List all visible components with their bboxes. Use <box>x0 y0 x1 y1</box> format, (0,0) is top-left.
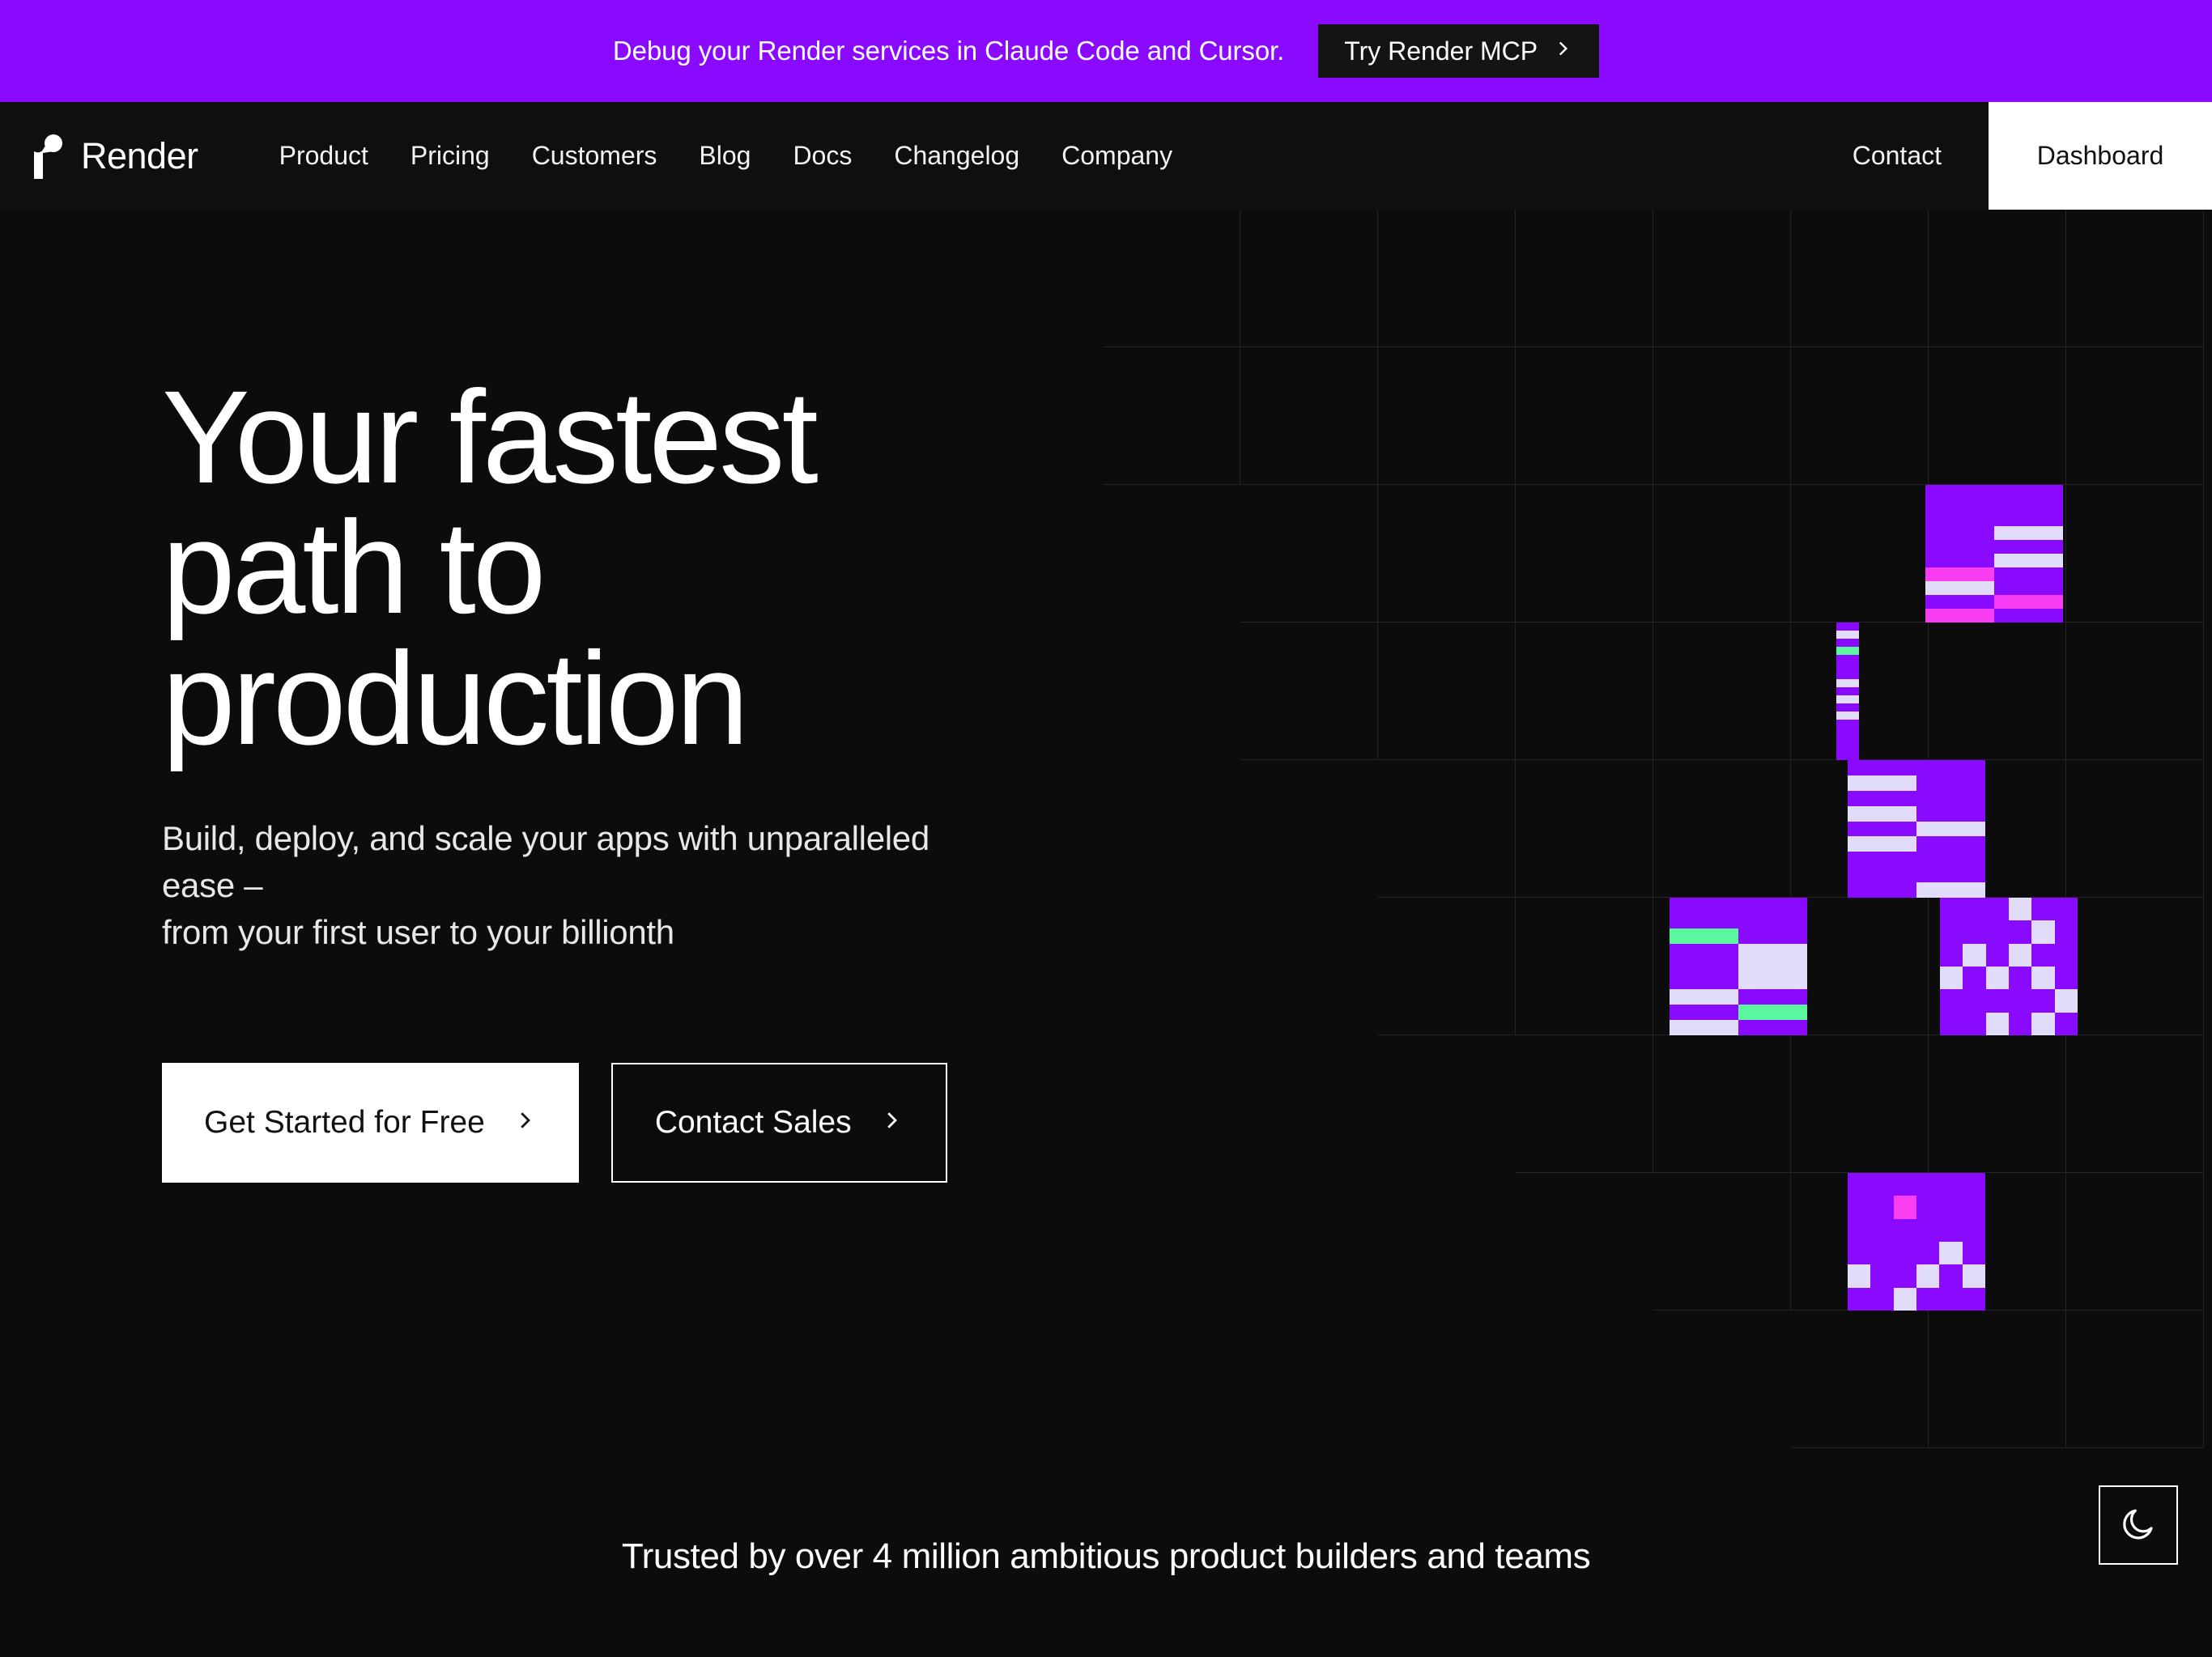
grid-cell <box>1378 485 1516 622</box>
hero-cta-row: Get Started for Free Contact Sales <box>162 1063 1053 1183</box>
grid-cell <box>1516 347 1653 485</box>
grid-cell <box>1516 1035 1653 1173</box>
trusted-by-text: Trusted by over 4 million ambitious prod… <box>622 1536 1590 1577</box>
grid-cell <box>1653 1035 1791 1173</box>
grid-cell <box>1516 760 1653 898</box>
nav-links: Product Pricing Customers Blog Docs Chan… <box>279 141 1173 171</box>
grid-cell <box>1653 1173 1791 1311</box>
subhead-line-2: from your first user to your billionth <box>162 913 674 951</box>
main-navigation: Render Product Pricing Customers Blog Do… <box>0 102 2212 210</box>
grid-cell <box>1929 1035 2066 1173</box>
grid-cell <box>2066 1173 2204 1311</box>
get-started-for-free-button[interactable]: Get Started for Free <box>162 1063 579 1183</box>
background-grid <box>1103 210 2212 1456</box>
grid-cell <box>1929 347 2066 485</box>
grid-cell <box>2066 898 2204 1035</box>
grid-cell <box>1653 760 1791 898</box>
grid-cell <box>1791 347 1929 485</box>
render-logo-icon <box>32 134 63 179</box>
hero-copy: Your fastest path to production Build, d… <box>162 372 1053 1183</box>
dashboard-button[interactable]: Dashboard <box>1989 102 2212 210</box>
grid-cell <box>1103 347 1240 485</box>
grid-cell <box>1929 1311 2066 1448</box>
primary-cta-label: Get Started for Free <box>204 1105 485 1141</box>
grid-cell <box>1240 622 1378 760</box>
trusted-by-strip: Trusted by over 4 million ambitious prod… <box>0 1456 2212 1657</box>
render-logo-text: Render <box>81 135 198 177</box>
nav-link-contact[interactable]: Contact <box>1806 102 1989 210</box>
grid-cell <box>1791 622 1929 760</box>
grid-cell <box>1516 898 1653 1035</box>
grid-cell <box>1791 1311 1929 1448</box>
grid-cell <box>2066 1035 2204 1173</box>
grid-cell <box>2066 760 2204 898</box>
grid-cell <box>1378 898 1516 1035</box>
nav-link-pricing[interactable]: Pricing <box>410 141 490 171</box>
grid-cell <box>1240 347 1378 485</box>
sprite-checker-bottom <box>1848 1173 1985 1311</box>
grid-cell <box>1929 210 2066 347</box>
grid-cell <box>2066 1311 2204 1448</box>
sprite-thin-bar <box>1836 622 1859 760</box>
sprite-stripes-top-right <box>1925 485 2063 622</box>
grid-cell <box>1791 485 1929 622</box>
nav-link-customers[interactable]: Customers <box>532 141 657 171</box>
nav-link-changelog[interactable]: Changelog <box>894 141 1019 171</box>
grid-cell <box>1378 622 1516 760</box>
grid-cell <box>1378 347 1516 485</box>
chevron-right-icon <box>513 1105 537 1141</box>
grid-cell <box>2066 210 2204 347</box>
grid-cell <box>1516 485 1653 622</box>
render-logo[interactable]: Render <box>32 134 198 179</box>
grid-cell <box>2066 347 2204 485</box>
grid-cell <box>1240 210 1378 347</box>
grid-cell <box>1516 210 1653 347</box>
grid-cell <box>1516 622 1653 760</box>
headline-line-3: production <box>162 624 746 772</box>
grid-cell <box>1378 210 1516 347</box>
hero-section: Your fastest path to production Build, d… <box>0 210 2212 1456</box>
grid-cell <box>1929 622 2066 760</box>
chevron-right-icon <box>879 1105 904 1141</box>
sprite-stripes-mid <box>1848 760 1985 898</box>
subhead-line-1: Build, deploy, and scale your apps with … <box>162 819 929 904</box>
grid-cell <box>1378 760 1516 898</box>
banner-message: Debug your Render services in Claude Cod… <box>613 36 1284 66</box>
theme-toggle-button[interactable] <box>2099 1485 2178 1565</box>
chevron-right-icon <box>1552 38 1573 64</box>
grid-cell <box>1653 485 1791 622</box>
grid-cell <box>1103 210 1240 347</box>
secondary-cta-label: Contact Sales <box>655 1105 852 1141</box>
grid-cell <box>1791 210 1929 347</box>
grid-cell <box>1791 1035 1929 1173</box>
grid-cell <box>2066 622 2204 760</box>
contact-sales-button[interactable]: Contact Sales <box>611 1063 947 1183</box>
grid-cell <box>1653 210 1791 347</box>
moon-icon <box>2119 1505 2158 1546</box>
try-render-mcp-button[interactable]: Try Render MCP <box>1318 24 1599 78</box>
page-title: Your fastest path to production <box>162 372 1053 763</box>
grid-cell <box>1653 347 1791 485</box>
nav-link-company[interactable]: Company <box>1061 141 1172 171</box>
grid-cell <box>1653 622 1791 760</box>
sprite-checker-right <box>1940 898 2078 1035</box>
nav-link-blog[interactable]: Blog <box>699 141 751 171</box>
announcement-banner: Debug your Render services in Claude Cod… <box>0 0 2212 102</box>
nav-right-group: Contact Dashboard <box>1806 102 2212 210</box>
hero-subheading: Build, deploy, and scale your apps with … <box>162 815 972 956</box>
grid-cell <box>2066 485 2204 622</box>
headline-line-1: Your fastest <box>162 363 815 511</box>
sprite-stripes-left-green <box>1670 898 1807 1035</box>
nav-link-product[interactable]: Product <box>279 141 368 171</box>
grid-cell <box>1791 898 1929 1035</box>
nav-link-docs[interactable]: Docs <box>793 141 852 171</box>
grid-cell <box>1240 485 1378 622</box>
headline-line-2: path to <box>162 493 542 641</box>
banner-cta-label: Try Render MCP <box>1344 36 1538 66</box>
